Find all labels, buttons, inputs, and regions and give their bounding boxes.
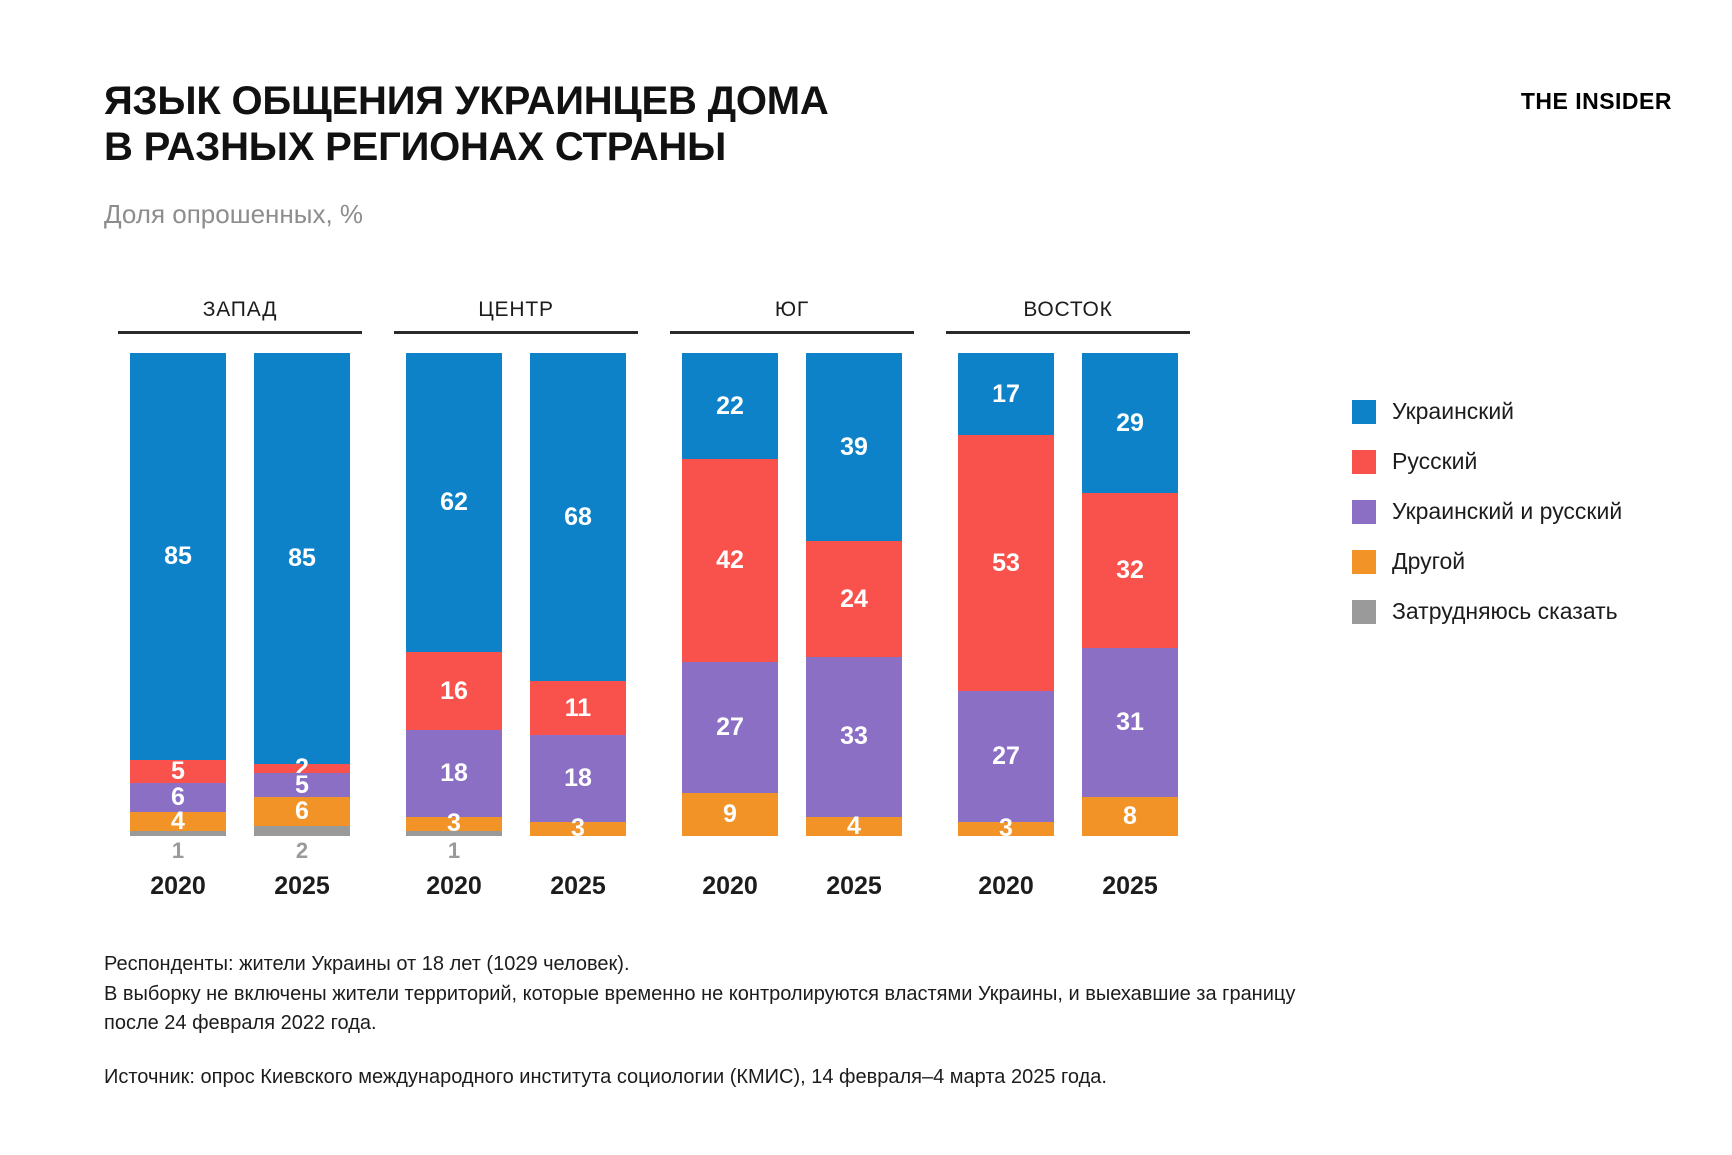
bar-segment[interactable]: 5 bbox=[130, 760, 226, 784]
bar-segment[interactable]: 4 bbox=[806, 817, 902, 836]
bar-column: 8525622025 bbox=[254, 353, 350, 898]
bar-segment[interactable]: 62 bbox=[406, 353, 502, 652]
segment-value: 33 bbox=[840, 724, 868, 749]
segment-value: 18 bbox=[440, 761, 468, 786]
bar-segment[interactable]: 18 bbox=[530, 735, 626, 822]
group-bars: 621618312020681118302025 bbox=[380, 353, 652, 898]
bar-segment[interactable]: 18 bbox=[406, 730, 502, 817]
segment-value: 9 bbox=[723, 802, 737, 827]
legend-item-label: Затрудняюсь сказать bbox=[1392, 598, 1618, 625]
bar-segment[interactable]: 3 bbox=[406, 817, 502, 831]
hard-to-say-value: 1 bbox=[406, 836, 502, 866]
bar-segment[interactable]: 39 bbox=[806, 353, 902, 541]
footnote-sample-2: после 24 февраля 2022 года. bbox=[104, 1009, 1664, 1037]
bar-year-label: 2020 bbox=[682, 872, 778, 901]
brand-logo: THE INSIDER bbox=[1521, 88, 1672, 115]
bar-column: 621618312020 bbox=[406, 353, 502, 898]
segment-value: 85 bbox=[164, 544, 192, 569]
bar-segment[interactable]: 29 bbox=[1082, 353, 1178, 493]
segment-value: 5 bbox=[295, 773, 309, 798]
segment-value: 22 bbox=[716, 394, 744, 419]
bar-segment[interactable]: 17 bbox=[958, 353, 1054, 435]
group-header: ЮГ bbox=[670, 298, 914, 334]
group-header: ЦЕНТР bbox=[394, 298, 638, 334]
bar-segment[interactable]: 31 bbox=[1082, 648, 1178, 798]
stacked-bar[interactable]: 1753273 bbox=[958, 353, 1054, 836]
group-title: ВОСТОК bbox=[946, 298, 1190, 331]
legend-item-5[interactable]: Затрудняюсь сказать bbox=[1352, 598, 1622, 625]
bar-segment[interactable]: 53 bbox=[958, 435, 1054, 691]
stacked-bar[interactable]: 2932318 bbox=[1082, 353, 1178, 836]
chart-group-2: ЦЕНТР621618312020681118302025 bbox=[380, 298, 652, 898]
chart-group-4: ВОСТОК175327302020293231802025 bbox=[932, 298, 1204, 898]
segment-value: 68 bbox=[564, 505, 592, 530]
legend-item-4[interactable]: Другой bbox=[1352, 548, 1622, 575]
bar-column: 392433402025 bbox=[806, 353, 902, 898]
bar-segment[interactable]: 27 bbox=[958, 691, 1054, 821]
footnotes: Респонденты: жители Украины от 18 лет (1… bbox=[104, 950, 1664, 1092]
group-underline bbox=[118, 331, 362, 334]
bar-segment[interactable]: 4 bbox=[130, 812, 226, 831]
bar-segment[interactable]: 22 bbox=[682, 353, 778, 459]
legend-item-label: Другой bbox=[1392, 548, 1465, 575]
segment-value: 16 bbox=[440, 679, 468, 704]
bar-segment[interactable]: 3 bbox=[530, 822, 626, 836]
chart-groups: ЗАПАД85564120208525622025ЦЕНТР6216183120… bbox=[104, 298, 1204, 898]
stacked-bar[interactable]: 6811183 bbox=[530, 353, 626, 836]
stacked-bar[interactable]: 6216183 bbox=[406, 353, 502, 836]
bar-column: 175327302020 bbox=[958, 353, 1054, 898]
legend-item-1[interactable]: Украинский bbox=[1352, 398, 1622, 425]
group-underline bbox=[394, 331, 638, 334]
group-bars: 224227902020392433402025 bbox=[656, 353, 928, 898]
group-header: ЗАПАД bbox=[118, 298, 362, 334]
hard-to-say-value: 1 bbox=[130, 836, 226, 866]
segment-value: 39 bbox=[840, 435, 868, 460]
bar-segment[interactable]: 5 bbox=[254, 773, 350, 797]
segment-value: 85 bbox=[288, 546, 316, 571]
legend-swatch-icon bbox=[1352, 500, 1376, 524]
legend-item-2[interactable]: Русский bbox=[1352, 448, 1622, 475]
page-title: ЯЗЫК ОБЩЕНИЯ УКРАИНЦЕВ ДОМА В РАЗНЫХ РЕГ… bbox=[104, 78, 1004, 171]
bar-column: 8556412020 bbox=[130, 353, 226, 898]
group-underline bbox=[946, 331, 1190, 334]
chart-group-3: ЮГ224227902020392433402025 bbox=[656, 298, 928, 898]
bar-segment[interactable]: 3 bbox=[958, 822, 1054, 836]
legend-item-label: Русский bbox=[1392, 448, 1477, 475]
group-title: ЗАПАД bbox=[118, 298, 362, 331]
bar-segment[interactable]: 16 bbox=[406, 652, 502, 729]
page-title-line-1: ЯЗЫК ОБЩЕНИЯ УКРАИНЦЕВ ДОМА bbox=[104, 78, 1004, 124]
legend-item-label: Украинский bbox=[1392, 398, 1514, 425]
segment-value: 29 bbox=[1116, 411, 1144, 436]
bar-year-label: 2020 bbox=[958, 872, 1054, 901]
hard-to-say-value: 2 bbox=[254, 836, 350, 866]
segment-value: 27 bbox=[716, 715, 744, 740]
group-title: ЦЕНТР bbox=[394, 298, 638, 331]
bar-segment[interactable]: 11 bbox=[530, 681, 626, 734]
segment-value: 8 bbox=[1123, 804, 1137, 829]
chart-legend: УкраинскийРусскийУкраинский и русскийДру… bbox=[1352, 398, 1622, 648]
legend-item-3[interactable]: Украинский и русский bbox=[1352, 498, 1622, 525]
infographic-page: ЯЗЫК ОБЩЕНИЯ УКРАИНЦЕВ ДОМА В РАЗНЫХ РЕГ… bbox=[0, 0, 1732, 1155]
segment-value: 24 bbox=[840, 587, 868, 612]
segment-value: 11 bbox=[565, 696, 591, 721]
footnote-respondents: Респонденты: жители Украины от 18 лет (1… bbox=[104, 950, 1664, 978]
bar-column: 293231802025 bbox=[1082, 353, 1178, 898]
bar-segment[interactable]: 33 bbox=[806, 657, 902, 816]
bar-year-label: 2020 bbox=[406, 872, 502, 901]
legend-swatch-icon bbox=[1352, 600, 1376, 624]
segment-value: 31 bbox=[1116, 710, 1144, 735]
bar-segment[interactable]: 42 bbox=[682, 459, 778, 662]
segment-value: 53 bbox=[992, 551, 1020, 576]
legend-swatch-icon bbox=[1352, 550, 1376, 574]
bar-year-label: 2020 bbox=[130, 872, 226, 901]
bar-column: 681118302025 bbox=[530, 353, 626, 898]
bar-year-label: 2025 bbox=[806, 872, 902, 901]
stacked-bar[interactable]: 85256 bbox=[254, 353, 350, 836]
stacked-bar[interactable]: 85564 bbox=[130, 353, 226, 836]
group-bars: 175327302020293231802025 bbox=[932, 353, 1204, 898]
bar-segment[interactable] bbox=[254, 826, 350, 836]
legend-swatch-icon bbox=[1352, 400, 1376, 424]
bar-segment[interactable]: 24 bbox=[806, 541, 902, 657]
segment-value: 5 bbox=[171, 759, 185, 784]
chart-group-1: ЗАПАД85564120208525622025 bbox=[104, 298, 376, 898]
legend-item-label: Украинский и русский bbox=[1392, 498, 1622, 525]
bar-segment[interactable]: 32 bbox=[1082, 493, 1178, 648]
segment-value: 3 bbox=[999, 816, 1013, 841]
bar-segment[interactable]: 8 bbox=[1082, 797, 1178, 836]
segment-value: 42 bbox=[716, 548, 744, 573]
group-title: ЮГ bbox=[670, 298, 914, 331]
bar-segment[interactable] bbox=[406, 831, 502, 836]
bar-segment[interactable] bbox=[130, 831, 226, 836]
bar-segment[interactable]: 68 bbox=[530, 353, 626, 681]
segment-value: 6 bbox=[295, 799, 309, 824]
stacked-bar-chart: ЗАПАД85564120208525622025ЦЕНТР6216183120… bbox=[104, 298, 1204, 898]
bar-column: 224227902020 bbox=[682, 353, 778, 898]
footnote-source: Источник: опрос Киевского международного… bbox=[104, 1063, 1664, 1091]
group-bars: 85564120208525622025 bbox=[104, 353, 376, 898]
bar-segment[interactable]: 85 bbox=[130, 353, 226, 760]
page-subtitle: Доля опрошенных, % bbox=[104, 199, 1672, 230]
page-title-line-2: В РАЗНЫХ РЕГИОНАХ СТРАНЫ bbox=[104, 124, 1004, 170]
segment-value: 4 bbox=[847, 814, 861, 839]
segment-value: 62 bbox=[440, 490, 468, 515]
stacked-bar[interactable]: 2242279 bbox=[682, 353, 778, 836]
bar-year-label: 2025 bbox=[254, 872, 350, 901]
segment-value: 3 bbox=[571, 816, 585, 841]
bar-segment[interactable]: 85 bbox=[254, 353, 350, 764]
legend-swatch-icon bbox=[1352, 450, 1376, 474]
bar-segment[interactable]: 9 bbox=[682, 793, 778, 836]
group-underline bbox=[670, 331, 914, 334]
group-header: ВОСТОК bbox=[946, 298, 1190, 334]
segment-value: 32 bbox=[1116, 558, 1144, 583]
segment-value: 17 bbox=[992, 382, 1020, 407]
segment-value: 18 bbox=[564, 766, 592, 791]
bar-segment[interactable]: 27 bbox=[682, 662, 778, 792]
stacked-bar[interactable]: 3924334 bbox=[806, 353, 902, 836]
bar-year-label: 2025 bbox=[530, 872, 626, 901]
header: ЯЗЫК ОБЩЕНИЯ УКРАИНЦЕВ ДОМА В РАЗНЫХ РЕГ… bbox=[104, 78, 1672, 230]
footnote-sample-1: В выборку не включены жители территорий,… bbox=[104, 980, 1664, 1008]
bar-segment[interactable]: 6 bbox=[254, 797, 350, 826]
bar-year-label: 2025 bbox=[1082, 872, 1178, 901]
segment-value: 27 bbox=[992, 744, 1020, 769]
